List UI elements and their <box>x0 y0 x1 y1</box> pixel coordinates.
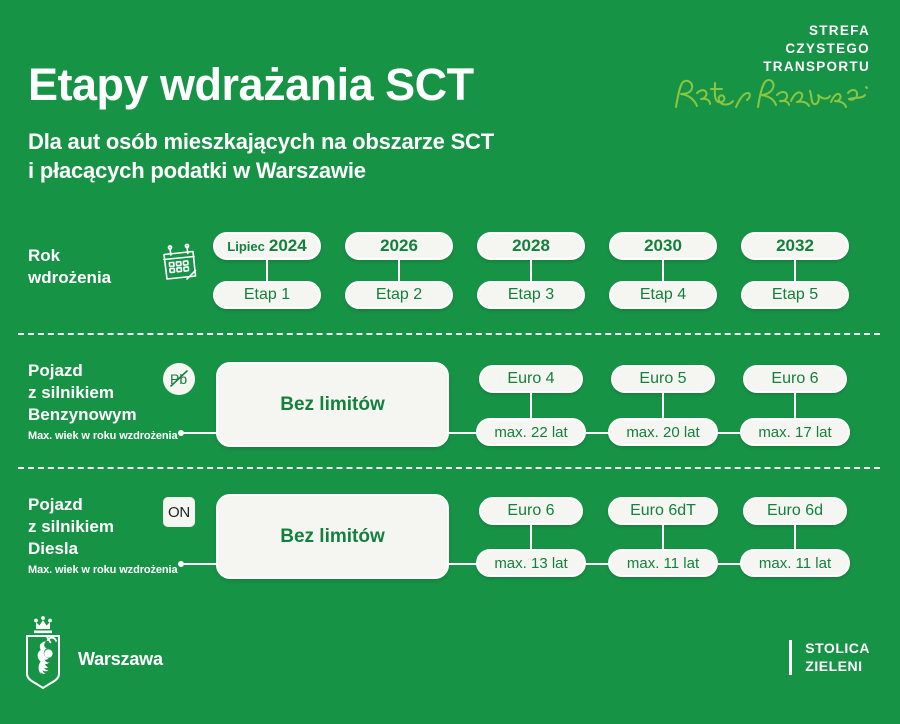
max-age-pill: max. 22 lat <box>476 418 586 446</box>
brand-mark: STREFA CZYSTEGO TRANSPORTU <box>670 22 870 111</box>
row-label-line-2: z silnikiem <box>28 516 178 538</box>
etap-pill: Etap 4 <box>609 281 717 309</box>
connector-vertical <box>398 260 400 282</box>
year-value: 2028 <box>512 236 550 256</box>
euro-pill: Euro 6d <box>743 497 847 525</box>
euro-label: Euro 6 <box>507 502 554 520</box>
max-age-pill: max. 11 lat <box>608 549 718 577</box>
etap-label: Etap 3 <box>508 286 554 304</box>
connector-horizontal <box>449 432 479 434</box>
divider-2 <box>18 467 880 469</box>
no-limit-label: Bez limitów <box>280 394 385 416</box>
no-limit-box-benzyna: Bez limitów <box>216 362 449 447</box>
pb-unleaded-icon: Pb <box>163 363 195 395</box>
max-age-label: max. 13 lat <box>494 555 567 572</box>
year-pill: Lipiec 2024 <box>213 232 321 260</box>
row-label-line-3: Benzynowym <box>28 404 178 426</box>
etap-pill: Etap 3 <box>477 281 585 309</box>
euro-pill: Euro 5 <box>611 365 715 393</box>
etap-pill: Etap 2 <box>345 281 453 309</box>
on-diesel-icon: ON <box>163 497 195 527</box>
max-age-pill: max. 17 lat <box>740 418 850 446</box>
year-pill: 2032 <box>741 232 849 260</box>
etap-label: Etap 1 <box>244 286 290 304</box>
year-value: 2030 <box>644 236 682 256</box>
row-label-line-3: Diesla <box>28 538 178 560</box>
max-age-label: max. 17 lat <box>758 424 831 441</box>
max-age-label: max. 20 lat <box>626 424 699 441</box>
etap-pill: Etap 5 <box>741 281 849 309</box>
row-label-benzyna: Pojazd z silnikiem Benzynowym Max. wiek … <box>28 360 178 442</box>
page-subtitle: Dla aut osób mieszkających na obszarze S… <box>28 127 494 185</box>
row-label-title: Pojazd z silnikiem Diesla <box>28 494 178 559</box>
page-title: Etapy wdrażania SCT <box>28 62 474 107</box>
on-badge: ON <box>163 497 195 527</box>
signature-icon <box>670 77 870 111</box>
no-limit-label: Bez limitów <box>280 526 385 548</box>
row-label-rok-wdrozenia: Rok wdrożenia <box>28 245 111 289</box>
brand-line-3: TRANSPORTU <box>670 58 870 76</box>
etap-pill: Etap 1 <box>213 281 321 309</box>
connector-vertical <box>530 525 532 549</box>
brand-line-2: CZYSTEGO <box>670 40 870 58</box>
year-pill: 2028 <box>477 232 585 260</box>
pb-badge: Pb <box>163 363 195 395</box>
row-label-title: Rok wdrożenia <box>28 245 111 289</box>
row-label-line-1: Rok <box>28 245 111 267</box>
connector-horizontal <box>184 563 216 565</box>
tagline-line-1: STOLICA <box>805 640 870 658</box>
year-prefix: Lipiec <box>227 239 265 254</box>
city-name: Warszawa <box>78 649 163 670</box>
tagline: STOLICA ZIELENI <box>789 640 870 675</box>
row-sublabel: Max. wiek w roku wzdrożenia <box>28 564 178 576</box>
row-label-line-2: wdrożenia <box>28 267 111 289</box>
subtitle-line-1: Dla aut osób mieszkających na obszarze S… <box>28 127 494 156</box>
euro-label: Euro 6 <box>771 370 818 388</box>
euro-label: Euro 4 <box>507 370 554 388</box>
footer: Warszawa STOLICA ZIELENI <box>0 600 900 724</box>
connector-vertical <box>794 525 796 549</box>
etap-label: Etap 2 <box>376 286 422 304</box>
divider-1 <box>18 333 880 335</box>
row-label-title: Pojazd z silnikiem Benzynowym <box>28 360 178 425</box>
max-age-label: max. 11 lat <box>759 555 831 572</box>
subtitle-line-2: i płacących podatki w Warszawie <box>28 156 494 185</box>
connector-vertical <box>794 393 796 418</box>
row-label-line-2: z silnikiem <box>28 382 178 404</box>
year-pill: 2026 <box>345 232 453 260</box>
brand-line-1: STREFA <box>670 22 870 40</box>
euro-pill: Euro 6 <box>479 497 583 525</box>
year-pill: 2030 <box>609 232 717 260</box>
euro-label: Euro 5 <box>639 370 686 388</box>
no-limit-box-diesel: Bez limitów <box>216 494 449 579</box>
etap-label: Etap 5 <box>772 286 818 304</box>
max-age-label: max. 22 lat <box>494 424 567 441</box>
row-label-line-1: Pojazd <box>28 360 178 382</box>
max-age-pill: max. 20 lat <box>608 418 718 446</box>
euro-pill: Euro 6 <box>743 365 847 393</box>
connector-vertical <box>662 525 664 549</box>
connector-vertical <box>266 260 268 282</box>
connector-vertical <box>530 393 532 418</box>
euro-pill: Euro 6dT <box>608 497 718 525</box>
connector-vertical <box>662 393 664 418</box>
header: Etapy wdrażania SCT Dla aut osób mieszka… <box>0 0 900 210</box>
connector-vertical <box>530 260 532 282</box>
connector-horizontal <box>449 563 479 565</box>
etap-label: Etap 4 <box>640 286 686 304</box>
euro-label: Euro 6d <box>767 502 823 520</box>
connector-horizontal <box>184 432 216 434</box>
connector-vertical <box>794 260 796 282</box>
year-value: 2032 <box>776 236 814 256</box>
max-age-label: max. 11 lat <box>627 555 699 572</box>
euro-label: Euro 6dT <box>630 502 696 520</box>
year-value: 2024 <box>269 236 307 256</box>
row-label-line-1: Pojazd <box>28 494 178 516</box>
connector-vertical <box>662 260 664 282</box>
row-sublabel: Max. wiek w roku wzdrożenia <box>28 430 178 442</box>
euro-pill: Euro 4 <box>479 365 583 393</box>
calendar-icon <box>158 243 200 290</box>
year-value: 2026 <box>380 236 418 256</box>
max-age-pill: max. 13 lat <box>476 549 586 577</box>
row-label-diesel: Pojazd z silnikiem Diesla Max. wiek w ro… <box>28 494 178 576</box>
max-age-pill: max. 11 lat <box>740 549 850 577</box>
tagline-line-2: ZIELENI <box>805 658 870 676</box>
warsaw-coat-of-arms-mermaid-icon <box>24 612 72 699</box>
